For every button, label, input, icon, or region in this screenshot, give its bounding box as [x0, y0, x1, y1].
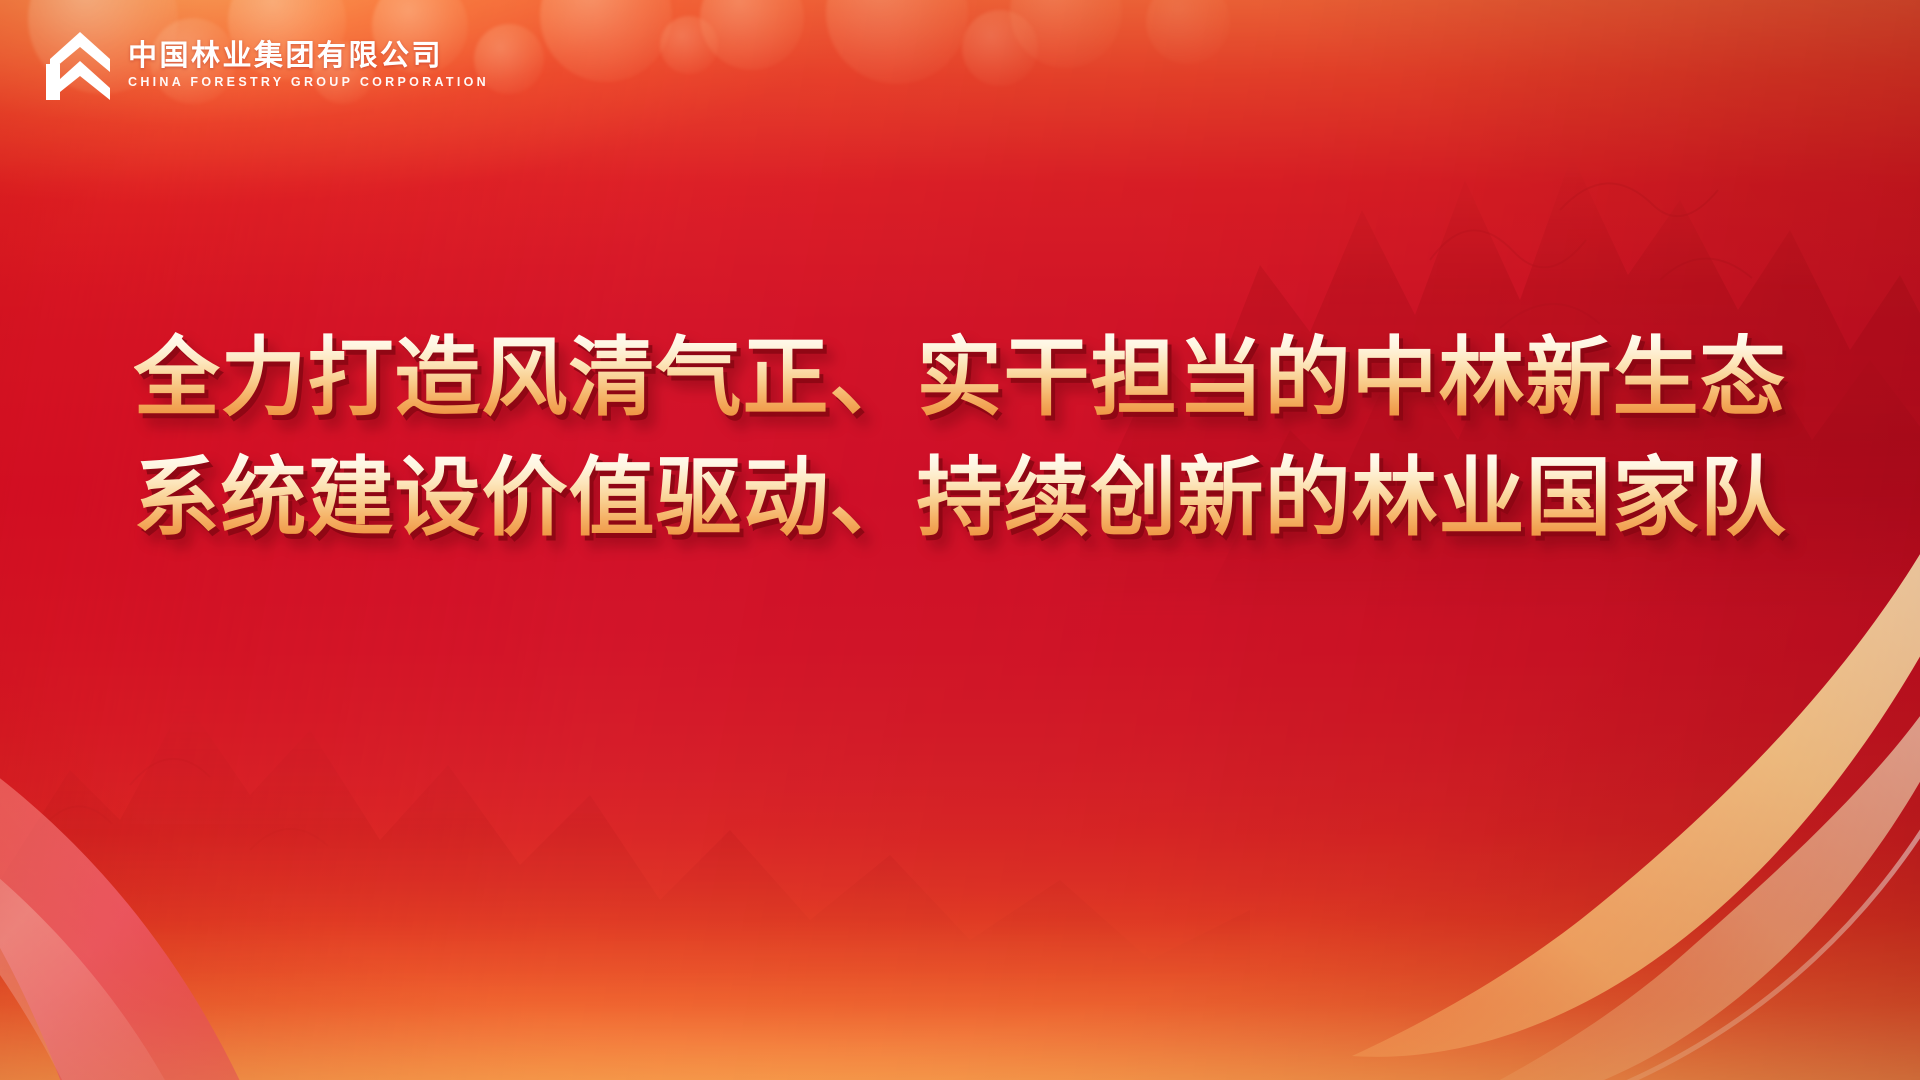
- golden-swoosh-icon: [1000, 500, 1920, 1080]
- banner-canvas: 中国林业集团有限公司 CHINA FORESTRY GROUP CORPORAT…: [0, 0, 1920, 1080]
- brand-name-en: CHINA FORESTRY GROUP CORPORATION: [128, 76, 489, 89]
- brand-logo-text: 中国林业集团有限公司 CHINA FORESTRY GROUP CORPORAT…: [128, 42, 489, 89]
- headline-block: 全力打造风清气正、实干担当的中林新生态 系统建设价值驱动、持续创新的林业国家队: [0, 330, 1920, 547]
- brand-logo[interactable]: 中国林业集团有限公司 CHINA FORESTRY GROUP CORPORAT…: [46, 30, 489, 100]
- salmon-ribbon-icon: [0, 590, 640, 1080]
- brand-name-cn: 中国林业集团有限公司: [128, 42, 489, 71]
- headline-line-2: 系统建设价值驱动、持续创新的林业国家队: [134, 450, 1787, 546]
- pagoda-mountain-chevron-icon: [46, 30, 114, 100]
- headline-line-1: 全力打造风清气正、实干担当的中林新生态: [134, 330, 1787, 426]
